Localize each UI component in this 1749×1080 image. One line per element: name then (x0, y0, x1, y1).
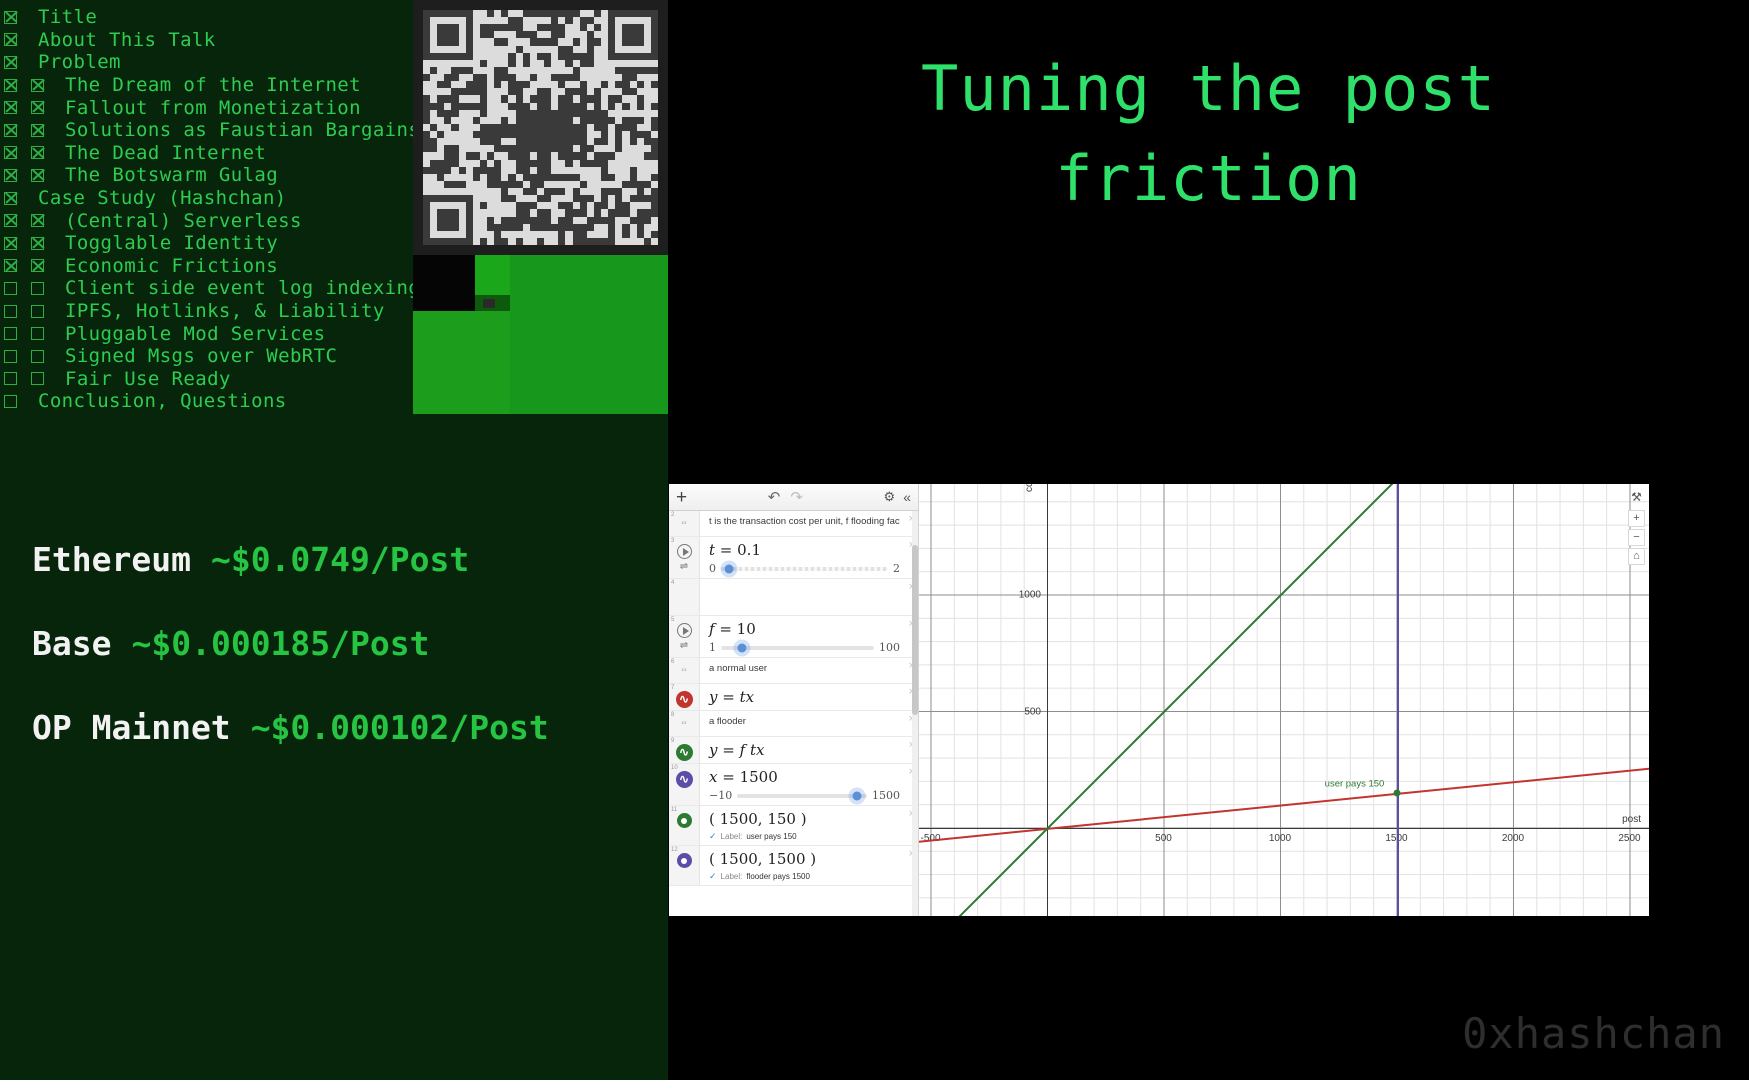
toc-item-label: Pluggable Mod Services (65, 323, 325, 345)
qr-module (637, 160, 644, 167)
parameter-slider[interactable]: 1100 (709, 641, 900, 654)
curve-style-icon[interactable]: ∿ (676, 744, 693, 761)
expression-gutter[interactable]: 6“ (669, 658, 700, 683)
qr-module (608, 81, 615, 88)
qr-module (622, 145, 629, 152)
qr-module (516, 131, 523, 138)
toc-item[interactable]: Conclusion, Questions (4, 390, 409, 413)
parameter-slider[interactable]: 02 (709, 562, 900, 575)
qr-module (530, 10, 537, 17)
checkbox-empty-icon[interactable] (4, 395, 17, 408)
qr-module (630, 209, 637, 216)
expression-body[interactable]: ( 1500, 1500 )✓Label:flooder pays 1500× (700, 846, 918, 885)
left-panel: TitleAbout This TalkProblemThe Dream of … (0, 0, 668, 1080)
qr-module (466, 160, 473, 167)
qr-module (615, 174, 622, 181)
qr-module (494, 138, 501, 145)
checkbox-checked-icon[interactable] (4, 101, 17, 114)
checkbox-checked-icon[interactable] (4, 124, 17, 137)
toc-checkbox-slot[interactable] (31, 282, 58, 295)
expression-body[interactable]: y = f tx× (700, 737, 918, 763)
qr-module (587, 46, 594, 53)
checkbox-checked-icon[interactable] (31, 237, 44, 250)
checkbox-checked-icon[interactable] (31, 146, 44, 159)
qr-module (523, 10, 530, 17)
qr-module (551, 145, 558, 152)
slider-min-value[interactable]: −10 (709, 789, 732, 802)
qr-module (637, 238, 644, 245)
qr-module (573, 209, 580, 216)
toc-item[interactable]: Client side event log indexing (4, 277, 409, 300)
expression-body[interactable]: t = 0.102× (700, 537, 918, 578)
expression-note-text[interactable]: a normal user (709, 661, 900, 677)
qr-module (444, 238, 451, 245)
qr-module (551, 110, 558, 117)
toc-item-label: Client side event log indexing (65, 277, 420, 299)
qr-module (430, 117, 437, 124)
chain-price-row: Base~$0.000185/Post (32, 624, 549, 663)
qr-module (459, 74, 466, 81)
checkbox-empty-icon[interactable] (31, 282, 44, 295)
qr-module (487, 131, 494, 138)
redo-icon[interactable]: ↷ (790, 488, 803, 506)
toc-item[interactable]: Signed Msgs over WebRTC (4, 345, 409, 368)
qr-module (430, 10, 437, 17)
toc-item-label: IPFS, Hotlinks, & Liability (65, 300, 385, 322)
toc-checkbox-slot[interactable] (31, 79, 58, 92)
toc-checkbox-slot[interactable] (4, 169, 31, 182)
expression-note-text[interactable]: t is the transaction cost per unit, f fl… (709, 514, 900, 530)
expression-body[interactable]: x = 1500−101500× (700, 764, 918, 805)
toc-item[interactable]: Pluggable Mod Services (4, 322, 409, 345)
qr-module (508, 124, 515, 131)
qr-module (594, 124, 601, 131)
qr-module (615, 217, 622, 224)
expression-row[interactable]: 12( 1500, 1500 )✓Label:flooder pays 1500… (669, 846, 918, 886)
expression-body[interactable]: t is the transaction cost per unit, f fl… (700, 511, 918, 536)
checkbox-checked-icon[interactable] (4, 56, 17, 69)
qr-module (466, 60, 473, 67)
toc-item[interactable]: Solutions as Faustian Bargains (4, 119, 409, 142)
toc-checkbox-slot[interactable] (4, 192, 31, 205)
toc-checkbox-slot[interactable] (4, 259, 31, 272)
slider-knob[interactable] (725, 564, 734, 573)
toc-checkbox-slot[interactable] (4, 214, 31, 227)
expression-math[interactable]: ( 1500, 1500 ) (709, 849, 900, 869)
home-button[interactable]: ⌂ (1628, 548, 1645, 565)
toc-item[interactable]: Case Study (Hashchan) (4, 187, 409, 210)
checkbox-empty-icon[interactable] (4, 350, 17, 363)
undo-icon[interactable]: ↶ (768, 488, 781, 506)
point-label-row[interactable]: ✓Label:user pays 150 (709, 831, 900, 842)
slider-knob[interactable] (852, 791, 861, 800)
checkbox-empty-icon[interactable] (31, 327, 44, 340)
curve-style-icon[interactable]: ∿ (676, 691, 693, 708)
toc-item[interactable]: Fair Use Ready (4, 368, 409, 391)
toc-item[interactable]: Economic Frictions (4, 255, 409, 278)
toc-checkbox-slot[interactable] (4, 237, 31, 250)
qr-module (480, 138, 487, 145)
toc-item-label: (Central) Serverless (65, 210, 302, 232)
qr-module (558, 103, 565, 110)
expression-row[interactable]: 7∿y = tx× (669, 684, 918, 711)
toc-checkbox-slot[interactable] (4, 146, 31, 159)
toc-item[interactable]: The Dead Internet (4, 142, 409, 165)
toc-checkbox-slot[interactable] (31, 101, 58, 114)
qr-module (558, 131, 565, 138)
toc-checkbox-slot[interactable] (4, 79, 31, 92)
checkbox-empty-icon[interactable] (4, 327, 17, 340)
qr-module (466, 24, 473, 31)
checkbox-checked-icon[interactable] (4, 169, 17, 182)
expression-gutter[interactable]: 8“ (669, 711, 700, 736)
qr-module (537, 145, 544, 152)
qr-module (601, 103, 608, 110)
qr-module (573, 31, 580, 38)
slider-min-value[interactable]: 0 (709, 562, 716, 575)
qr-module (451, 152, 458, 159)
qr-module (480, 81, 487, 88)
checkbox-checked-icon[interactable] (4, 214, 17, 227)
expression-gutter[interactable]: 9∿ (669, 737, 700, 763)
qr-module (501, 217, 508, 224)
slider-max-value[interactable]: 100 (879, 641, 900, 654)
qr-module (516, 74, 523, 81)
qr-module (423, 145, 430, 152)
checkbox-empty-icon[interactable] (4, 282, 17, 295)
wrench-icon[interactable]: ⚒ (1628, 488, 1645, 505)
checkbox-empty-icon[interactable] (31, 350, 44, 363)
qr-module (494, 117, 501, 124)
expression-math[interactable]: t = 0.1 (709, 540, 900, 560)
checkbox-checked-icon[interactable] (31, 259, 44, 272)
qr-module (551, 238, 558, 245)
qr-module (530, 209, 537, 216)
checkbox-checked-icon[interactable] (31, 169, 44, 182)
checkbox-empty-icon[interactable] (31, 305, 44, 318)
qr-module (630, 124, 637, 131)
qr-module (637, 152, 644, 159)
qr-module (530, 160, 537, 167)
zoom-in-button[interactable]: + (1628, 510, 1645, 527)
toc-checkbox-slot[interactable] (4, 327, 31, 340)
expression-scrollbar-thumb[interactable] (912, 545, 918, 715)
qr-module (594, 67, 601, 74)
toc-item[interactable]: (Central) Serverless (4, 209, 409, 232)
add-expression-button[interactable]: + (676, 488, 687, 507)
expression-gutter[interactable]: 5⇌ (669, 616, 700, 657)
checkbox-checked-icon[interactable] (31, 214, 44, 227)
qr-module (501, 110, 508, 117)
qr-module (544, 67, 551, 74)
checkmark-icon[interactable]: ✓ (709, 831, 717, 842)
qr-module (565, 17, 572, 24)
qr-module (651, 138, 658, 145)
toc-checkbox-slot[interactable] (4, 350, 31, 363)
toc-item[interactable]: Fallout from Monetization (4, 96, 409, 119)
qr-module (594, 103, 601, 110)
expression-row[interactable]: 2“t is the transaction cost per unit, f … (669, 511, 918, 537)
plot-point-label: user pays 150 (1325, 779, 1385, 790)
toc-checkbox-slot[interactable] (31, 214, 58, 227)
qr-module (558, 88, 565, 95)
expression-scrollbar[interactable] (912, 511, 918, 916)
curve-style-icon[interactable]: ∿ (676, 771, 693, 788)
qr-module (444, 81, 451, 88)
toc-checkbox-slot[interactable] (4, 395, 31, 408)
qr-module (530, 31, 537, 38)
expression-gutter[interactable]: 10∿ (669, 764, 700, 805)
point-style-icon[interactable] (677, 813, 692, 828)
toc-item[interactable]: The Botswarm Gulag (4, 164, 409, 187)
qr-module (580, 174, 587, 181)
qr-module (558, 217, 565, 224)
toc-item[interactable]: IPFS, Hotlinks, & Liability (4, 300, 409, 323)
qr-module (451, 88, 458, 95)
checkbox-empty-icon[interactable] (4, 305, 17, 318)
collapse-panel-icon[interactable]: « (903, 489, 911, 505)
swap-icon[interactable]: ⇌ (680, 561, 688, 572)
toc-checkbox-slot[interactable] (31, 350, 58, 363)
slider-knob[interactable] (738, 643, 747, 652)
expression-math[interactable]: y = tx (709, 687, 900, 707)
qr-module (501, 67, 508, 74)
qr-module (459, 138, 466, 145)
qr-module (651, 124, 658, 131)
qr-module (516, 238, 523, 245)
slider-track[interactable] (721, 567, 888, 571)
checkmark-icon[interactable]: ✓ (709, 871, 717, 882)
checkbox-checked-icon[interactable] (31, 124, 44, 137)
expression-math[interactable]: f = 10 (709, 619, 900, 639)
expression-row[interactable]: 9∿y = f tx× (669, 737, 918, 764)
qr-module (551, 209, 558, 216)
qr-module (615, 152, 622, 159)
qr-module (523, 17, 530, 24)
qr-module (437, 202, 444, 209)
qr-module (608, 217, 615, 224)
expression-row[interactable]: 3⇌t = 0.102× (669, 537, 918, 579)
slider-max-value[interactable]: 2 (893, 562, 900, 575)
expression-row[interactable]: 4× (669, 579, 918, 616)
qr-module (601, 224, 608, 231)
checkbox-checked-icon[interactable] (4, 11, 17, 24)
qr-module (594, 145, 601, 152)
qr-module (473, 117, 480, 124)
qr-module (537, 174, 544, 181)
toc-checkbox-slot[interactable] (31, 146, 58, 159)
qr-module (630, 110, 637, 117)
qr-module (437, 209, 444, 216)
slider-track[interactable] (737, 794, 867, 798)
play-icon[interactable] (677, 544, 692, 559)
qr-module (601, 202, 608, 209)
qr-module (537, 103, 544, 110)
expression-row[interactable]: 5⇌f = 101100× (669, 616, 918, 658)
qr-module (430, 209, 437, 216)
toc-checkbox-slot[interactable] (31, 372, 58, 385)
qr-module (580, 202, 587, 209)
qr-module (487, 224, 494, 231)
expression-empty[interactable] (709, 582, 900, 612)
expression-gutter[interactable]: 3⇌ (669, 537, 700, 578)
checkbox-empty-icon[interactable] (31, 372, 44, 385)
expression-body[interactable]: y = tx× (700, 684, 918, 710)
expression-gutter[interactable]: 4 (669, 579, 700, 615)
checkbox-checked-icon[interactable] (4, 192, 17, 205)
toc-checkbox-slot[interactable] (4, 11, 31, 24)
expression-gutter[interactable]: 7∿ (669, 684, 700, 710)
checkbox-checked-icon[interactable] (4, 146, 17, 159)
play-icon[interactable] (677, 623, 692, 638)
slider-track[interactable] (721, 646, 874, 650)
qr-module (644, 81, 651, 88)
toc-checkbox-slot[interactable] (4, 282, 31, 295)
expression-body[interactable]: f = 101100× (700, 616, 918, 657)
graph-canvas[interactable]: cost post -5005001000150020002500-1000-5… (919, 484, 1649, 916)
qr-module (501, 231, 508, 238)
checkbox-checked-icon[interactable] (31, 101, 44, 114)
gear-icon[interactable]: ⚙ (884, 489, 896, 505)
qr-module (601, 117, 608, 124)
qr-module (451, 209, 458, 216)
qr-module (594, 24, 601, 31)
toc-item[interactable]: The Dream of the Internet (4, 74, 409, 97)
toc-checkbox-slot[interactable] (31, 124, 58, 137)
toc-checkbox-slot[interactable] (4, 56, 31, 69)
qr-module (594, 117, 601, 124)
point-style-icon[interactable] (677, 853, 692, 868)
expression-gutter[interactable]: 12 (669, 846, 700, 885)
expression-gutter[interactable]: 2“ (669, 511, 700, 536)
qr-module (637, 217, 644, 224)
qr-module (594, 31, 601, 38)
checkbox-checked-icon[interactable] (4, 79, 17, 92)
qr-module (558, 31, 565, 38)
qr-module (558, 67, 565, 74)
qr-module (423, 81, 430, 88)
zoom-out-button[interactable]: − (1628, 529, 1645, 546)
qr-module (622, 167, 629, 174)
toc-item[interactable]: About This Talk (4, 29, 409, 52)
qr-module (466, 81, 473, 88)
qr-module (473, 74, 480, 81)
toc-checkbox-slot[interactable] (4, 33, 31, 46)
qr-module (594, 217, 601, 224)
expression-note-text[interactable]: a flooder (709, 714, 900, 730)
qr-module (573, 160, 580, 167)
expression-body[interactable]: ( 1500, 150 )✓Label:user pays 150× (700, 806, 918, 845)
qr-module (444, 188, 451, 195)
toc-checkbox-slot[interactable] (31, 169, 58, 182)
qr-module (530, 145, 537, 152)
qr-module (622, 195, 629, 202)
slider-min-value[interactable]: 1 (709, 641, 716, 654)
toc-checkbox-slot[interactable] (31, 259, 58, 272)
qr-module (573, 60, 580, 67)
qr-module (644, 152, 651, 159)
expression-gutter[interactable]: 11 (669, 806, 700, 845)
toc-item[interactable]: Togglable Identity (4, 232, 409, 255)
toc-checkbox-slot[interactable] (4, 372, 31, 385)
qr-module (473, 188, 480, 195)
qr-module (473, 124, 480, 131)
checkbox-checked-icon[interactable] (4, 33, 17, 46)
qr-module (587, 81, 594, 88)
toc-item[interactable]: Problem (4, 51, 409, 74)
thumb-region-bottom-left (413, 311, 510, 414)
toc-checkbox-slot[interactable] (4, 101, 31, 114)
toc-checkbox-slot[interactable] (31, 305, 58, 318)
point-label-row[interactable]: ✓Label:flooder pays 1500 (709, 871, 900, 882)
toc-item[interactable]: Title (4, 6, 409, 29)
qr-module (459, 152, 466, 159)
slider-max-value[interactable]: 1500 (872, 789, 900, 802)
qr-module (601, 152, 608, 159)
point-label-value[interactable]: flooder pays 1500 (746, 872, 810, 881)
checkbox-checked-icon[interactable] (4, 237, 17, 250)
qr-module (630, 67, 637, 74)
parameter-slider[interactable]: −101500 (709, 789, 900, 802)
qr-module (544, 231, 551, 238)
qr-module (423, 217, 430, 224)
expression-row[interactable]: 6“a normal user× (669, 658, 918, 684)
toc-checkbox-slot[interactable] (4, 305, 31, 318)
expression-math[interactable]: y = f tx (709, 740, 900, 760)
checkbox-empty-icon[interactable] (4, 372, 17, 385)
qr-module (587, 209, 594, 216)
swap-icon[interactable]: ⇌ (680, 640, 688, 651)
qr-module (480, 131, 487, 138)
expression-body[interactable]: a normal user× (700, 658, 918, 683)
qr-module (637, 209, 644, 216)
toc-checkbox-slot[interactable] (4, 124, 31, 137)
qr-module (523, 67, 530, 74)
point-label-value[interactable]: user pays 150 (746, 832, 796, 841)
qr-module (558, 95, 565, 102)
toc-checkbox-slot[interactable] (31, 237, 58, 250)
expression-math[interactable]: ( 1500, 150 ) (709, 809, 900, 829)
checkbox-checked-icon[interactable] (4, 259, 17, 272)
expression-body[interactable]: a flooder× (700, 711, 918, 736)
expression-row[interactable]: 11( 1500, 150 )✓Label:user pays 150× (669, 806, 918, 846)
qr-module (587, 38, 594, 45)
qr-module (644, 131, 651, 138)
expression-body[interactable]: × (700, 579, 918, 615)
expression-row[interactable]: 8“a flooder× (669, 711, 918, 737)
checkbox-checked-icon[interactable] (31, 79, 44, 92)
qr-module (644, 238, 651, 245)
qr-module (573, 38, 580, 45)
expression-row[interactable]: 10∿x = 1500−101500× (669, 764, 918, 806)
qr-code[interactable] (413, 0, 668, 255)
qr-module (630, 81, 637, 88)
qr-module (644, 53, 651, 60)
qr-module (423, 174, 430, 181)
qr-module (473, 181, 480, 188)
qr-module (558, 174, 565, 181)
qr-module (437, 131, 444, 138)
expression-math[interactable]: x = 1500 (709, 767, 900, 787)
qr-module (587, 217, 594, 224)
qr-module (630, 217, 637, 224)
qr-module (573, 231, 580, 238)
qr-module (508, 152, 515, 159)
toc-checkbox-slot[interactable] (31, 327, 58, 340)
qr-module (615, 81, 622, 88)
qr-module (558, 209, 565, 216)
toc-item-label: Conclusion, Questions (38, 390, 287, 412)
